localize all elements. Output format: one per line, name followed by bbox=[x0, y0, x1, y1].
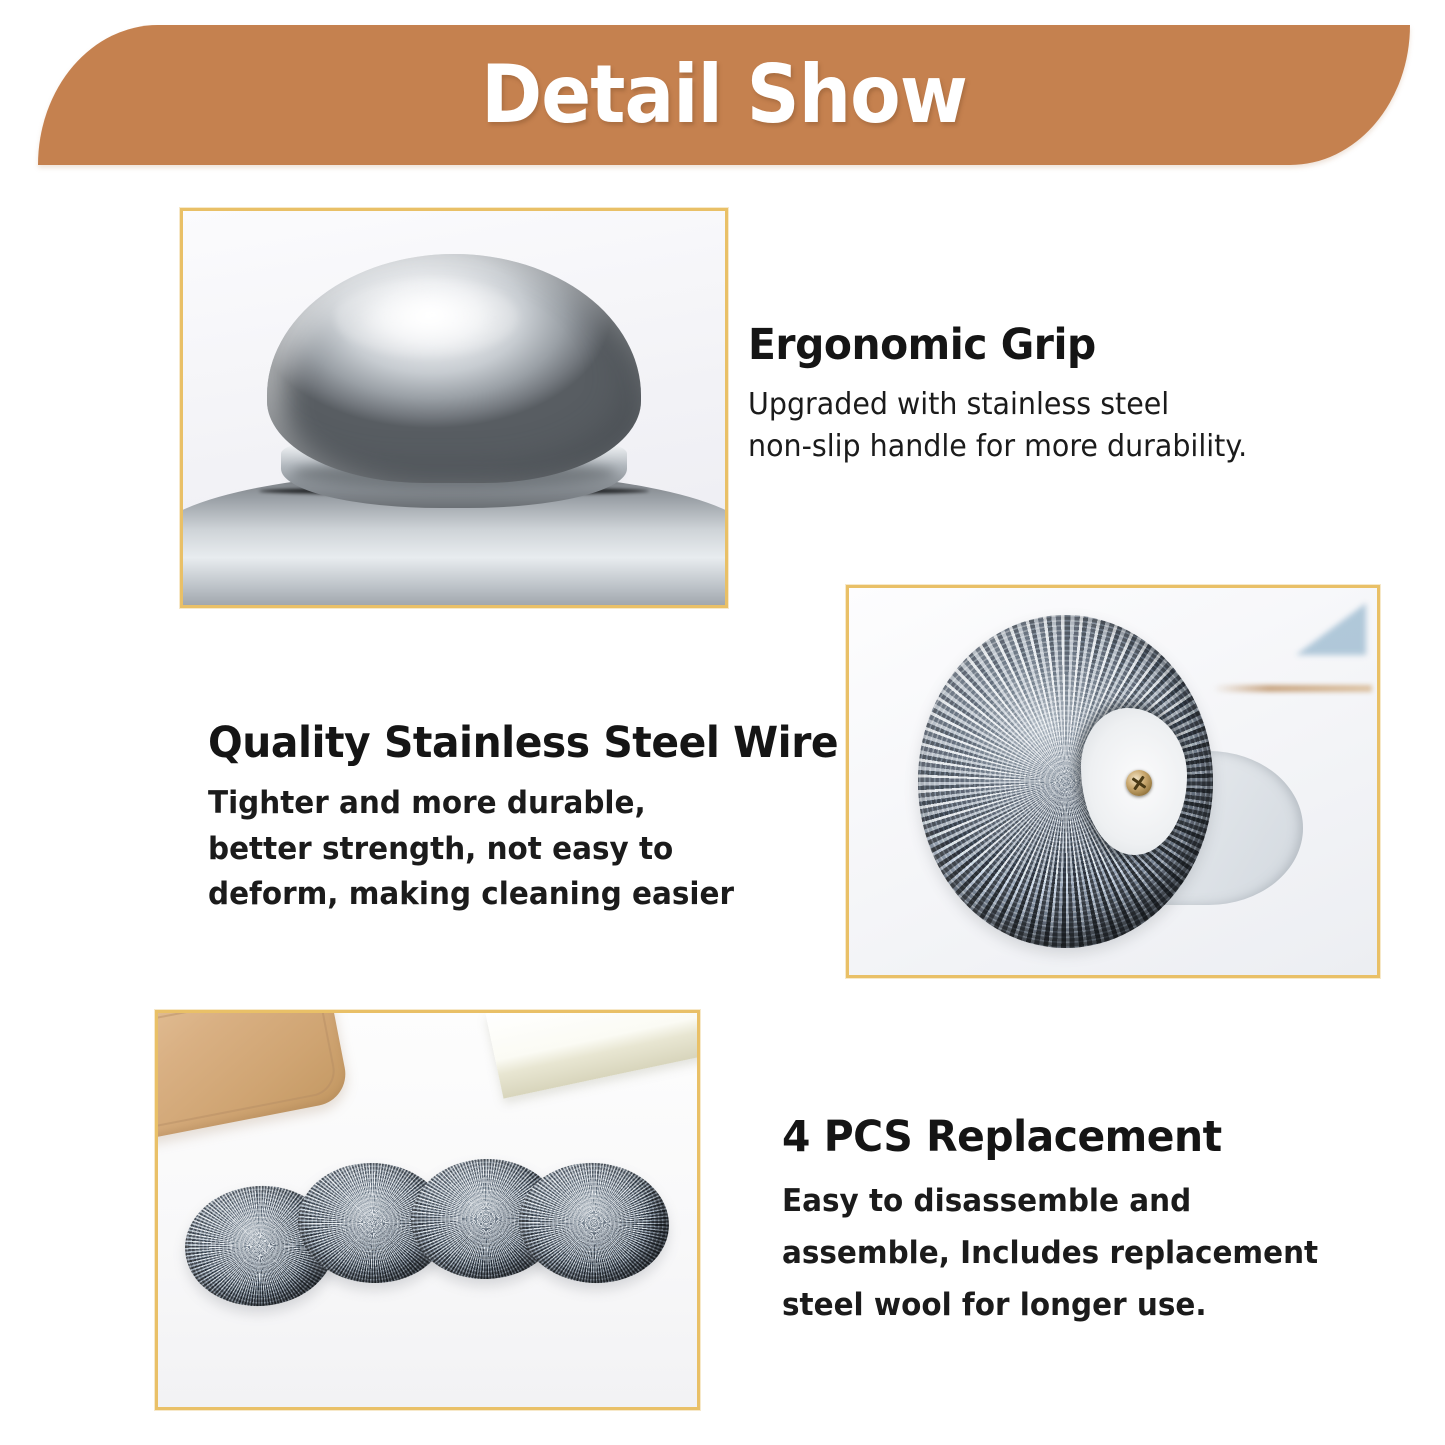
feature-body-line: deform, making cleaning easier bbox=[208, 872, 838, 918]
feature-image-ergonomic-grip bbox=[180, 208, 728, 608]
image-steel-wool-ball bbox=[849, 588, 1377, 975]
feature-body-line: Easy to disassemble and bbox=[782, 1176, 1318, 1228]
feature-body-line: non-slip handle for more durability. bbox=[748, 426, 1247, 468]
page-header-banner: Detail Show bbox=[38, 25, 1410, 165]
page-title: Detail Show bbox=[481, 55, 967, 135]
feature-text-4-pcs-replacement: 4 PCS Replacement Easy to disassemble an… bbox=[782, 1112, 1346, 1331]
feature-title: 4 PCS Replacement bbox=[782, 1112, 1318, 1162]
grip-dome-highlight bbox=[335, 278, 519, 357]
feature-body-line: Upgraded with stainless steel bbox=[748, 384, 1247, 426]
product-detail-page: Detail Show Ergonomic Grip Upgraded with… bbox=[0, 0, 1445, 1445]
feature-title: Quality Stainless Steel Wire bbox=[208, 718, 838, 768]
feature-body: Upgraded with stainless steel non-slip h… bbox=[748, 384, 1247, 468]
feature-image-4-pcs-replacement: giorn bbox=[155, 1010, 700, 1410]
feature-body: Tighter and more durable, better strengt… bbox=[208, 781, 838, 918]
feature-text-quality-stainless-steel-wire: Quality Stainless Steel Wire Tighter and… bbox=[208, 718, 871, 918]
wire-background-tan-line bbox=[1213, 685, 1371, 692]
image-four-steel-wool-pads: giorn bbox=[158, 1013, 697, 1407]
feature-image-quality-stainless-steel-wire bbox=[846, 585, 1380, 978]
feature-body-line: Tighter and more durable, bbox=[208, 781, 838, 827]
pcs-pad-group bbox=[158, 1013, 697, 1407]
feature-body-line: assemble, Includes replacement bbox=[782, 1228, 1318, 1280]
wire-center-screw bbox=[1126, 770, 1152, 796]
wire-background-blue-object bbox=[1296, 603, 1366, 655]
feature-title: Ergonomic Grip bbox=[748, 320, 1247, 370]
feature-text-ergonomic-grip: Ergonomic Grip Upgraded with stainless s… bbox=[748, 320, 1274, 468]
feature-body-line: better strength, not easy to bbox=[208, 827, 838, 873]
feature-body-line: steel wool for longer use. bbox=[782, 1280, 1318, 1332]
image-ergonomic-grip bbox=[183, 211, 725, 605]
feature-body: Easy to disassemble and assemble, Includ… bbox=[782, 1176, 1318, 1331]
